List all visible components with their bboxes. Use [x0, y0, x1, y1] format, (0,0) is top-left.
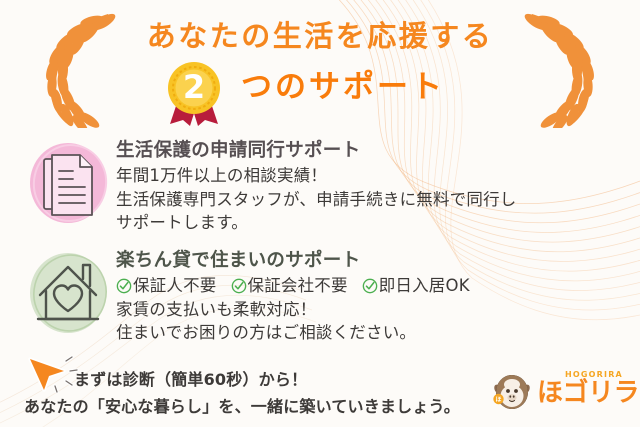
logo-brand-name: ほゴリラ [537, 380, 639, 406]
support-body-line: 年間1万件以上の相談実績！ [116, 164, 634, 187]
feature-check: 保証会社不要 [231, 274, 348, 297]
support-title: 楽ちん貸で住まいのサポート [116, 249, 634, 272]
check-circle-icon [231, 278, 247, 294]
support-item-text: 生活保護の申請同行サポート 年間1万件以上の相談実績！ 生活保護専門スタッフが、… [116, 133, 634, 234]
feature-check-label: 保証人不要 [133, 274, 217, 297]
feature-check-list: 保証人不要 保証会社不要 即日入居OK [116, 274, 634, 297]
brand-logo[interactable]: ほ HOGORIRA ほゴリラ [490, 367, 632, 415]
feature-check: 保証人不要 [116, 274, 217, 297]
support-body-line: 生活保護専門スタッフが、申請手続きに無料で同行し [116, 188, 634, 211]
support-item-text: 楽ちん貸で住まいのサポート 保証人不要 保証会社不要 [116, 243, 634, 344]
feature-check: 即日入居OK [362, 274, 470, 297]
banner-footer: まずは診断（簡単60秒）から！ あなたの「安心な暮らし」を、一緒に築いていきまし… [0, 353, 640, 427]
footer-cta-line-2: あなたの「安心な暮らし」を、一緒に築いていきましょう。 [24, 393, 460, 417]
footer-cta-line-1: まずは診断（簡単60秒）から！ [74, 366, 307, 390]
logo-wordmark: HOGORIRA ほゴリラ [537, 369, 629, 413]
feature-check-label: 即日入居OK [379, 274, 470, 297]
support-body-line: サポートします。 [116, 211, 634, 234]
support-body-line: 住まいでお困りの方はご相談ください。 [116, 321, 634, 344]
banner-header: あなたの生活を応援する 2 つのサポート [0, 0, 640, 128]
check-circle-icon [116, 278, 132, 294]
support-item-welfare-application: 生活保護の申請同行サポート 年間1万件以上の相談実績！ 生活保護専門スタッフが、… [0, 133, 640, 243]
orange-cursor-click-icon [24, 355, 80, 393]
headline-line-2: つのサポート [0, 72, 640, 103]
support-body-line: 家賃の支払いも柔軟対応！ [116, 298, 634, 321]
promo-banner: あなたの生活を応援する 2 つのサポート [0, 0, 640, 427]
support-title: 生活保護の申請同行サポート [116, 139, 634, 162]
house-heart-icon [26, 247, 110, 339]
document-stack-icon [26, 137, 110, 229]
check-circle-icon [362, 278, 378, 294]
feature-check-label: 保証会社不要 [248, 274, 348, 297]
headline-line-1: あなたの生活を応援する [0, 22, 640, 51]
gorilla-mascot-icon: ほ [490, 369, 534, 413]
support-item-housing: 楽ちん貸で住まいのサポート 保証人不要 保証会社不要 [0, 243, 640, 353]
svg-text:ほ: ほ [495, 396, 501, 403]
